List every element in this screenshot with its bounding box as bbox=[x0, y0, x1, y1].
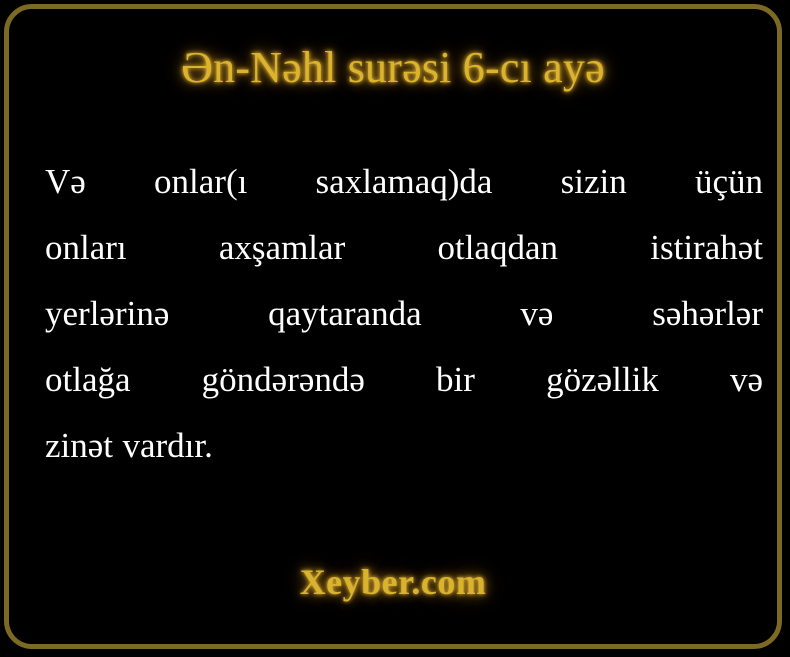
card-inner-surface: Ən-Nəhl surəsi 6-cı ayə Və onlar(ı saxla… bbox=[9, 9, 777, 644]
footer-brand-watermark: Xeyber.com bbox=[9, 561, 777, 603]
page-title: Ən-Nəhl surəsi 6-cı ayə bbox=[9, 45, 777, 91]
verse-line: zinət vardır. bbox=[45, 413, 763, 479]
verse-card: Ən-Nəhl surəsi 6-cı ayə Və onlar(ı saxla… bbox=[0, 0, 790, 657]
card-border-frame: Ən-Nəhl surəsi 6-cı ayə Və onlar(ı saxla… bbox=[4, 4, 782, 649]
verse-line: otlağa göndərəndə bir gözəllik və bbox=[45, 347, 763, 413]
verse-line: onları axşamlar otlaqdan istirahət bbox=[45, 215, 763, 281]
verse-line: yerlərinə qaytaranda və səhərlər bbox=[45, 281, 763, 347]
verse-body-text: Və onlar(ı saxlamaq)da sizin üçün onları… bbox=[45, 149, 763, 479]
verse-line: Və onlar(ı saxlamaq)da sizin üçün bbox=[45, 149, 763, 215]
